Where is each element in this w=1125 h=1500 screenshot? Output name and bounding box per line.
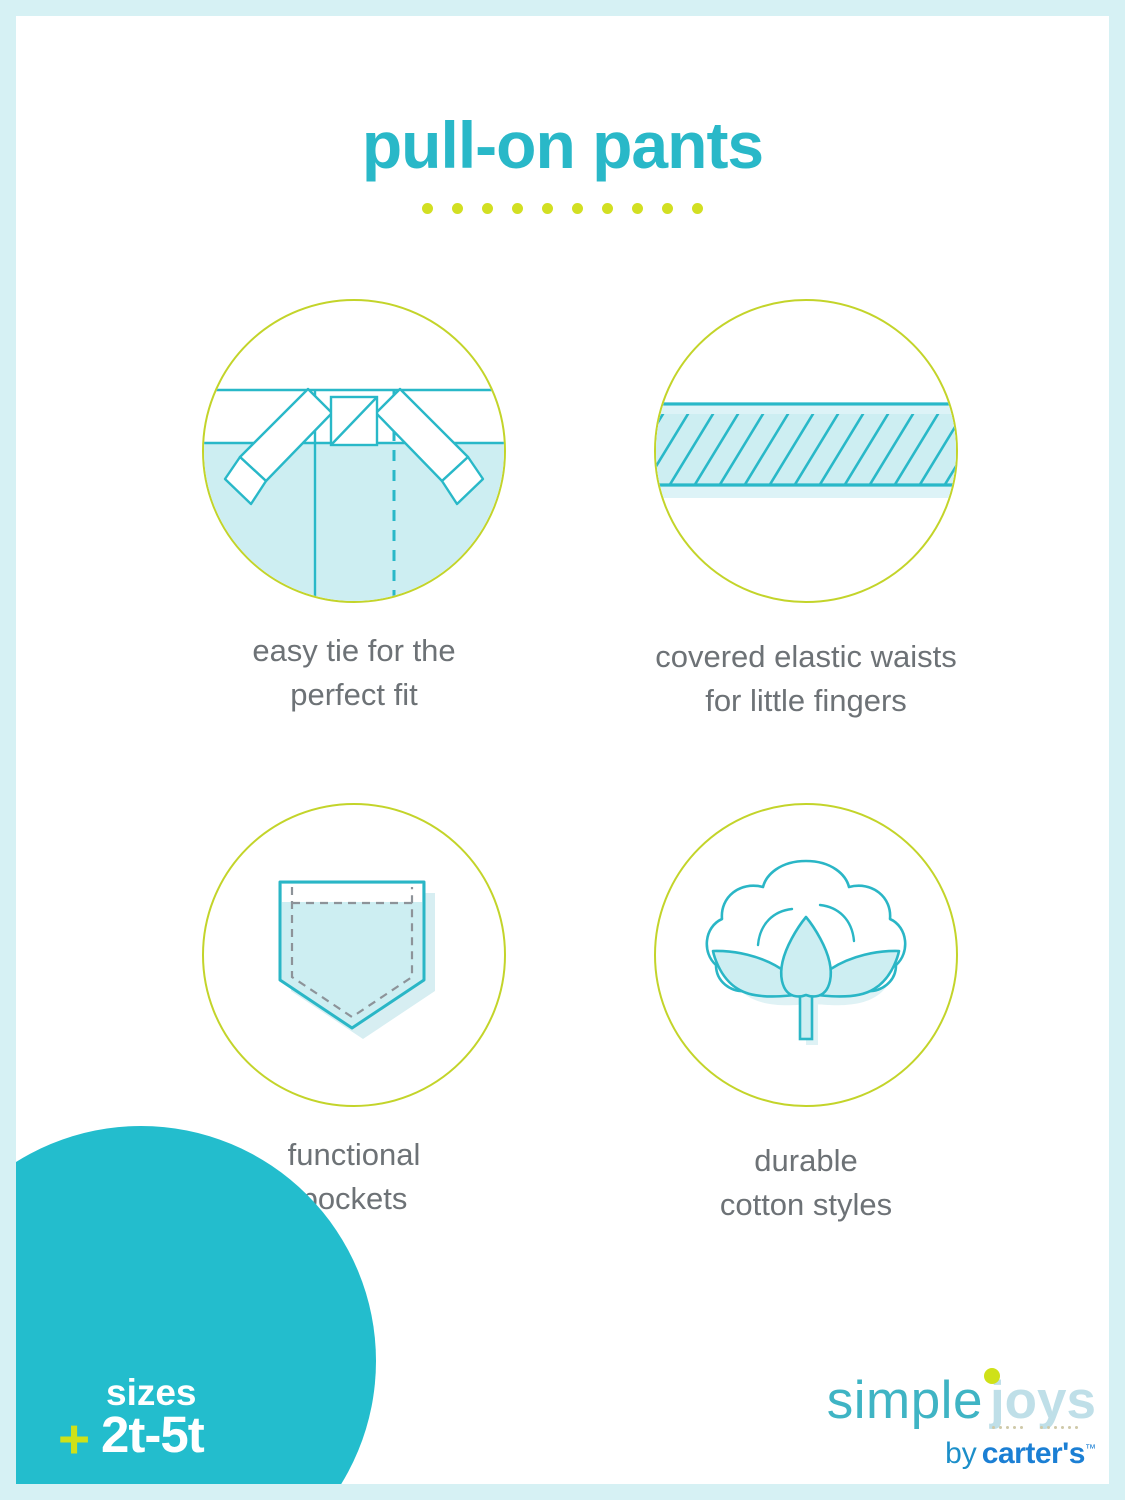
drawstring-tie-icon	[202, 299, 506, 603]
brand-underline-dots	[992, 1426, 1078, 1429]
feature-caption: easy tie for the perfect fit	[124, 629, 584, 717]
decorative-dot-divider	[16, 203, 1109, 214]
feature-caption-line2: for little fingers	[576, 679, 1036, 723]
divider-dot	[602, 203, 613, 214]
divider-dot	[632, 203, 643, 214]
feature-caption-line1: durable	[576, 1139, 1036, 1183]
brand-underline-dot	[1047, 1426, 1050, 1429]
brand-underline-dot	[1068, 1426, 1071, 1429]
brand-underline-dot	[999, 1426, 1002, 1429]
brand-logo-secondary: bycarter's™	[816, 1439, 1096, 1469]
brand-underline-dot	[1006, 1426, 1009, 1429]
feature-item-easy-tie: easy tie for the perfect fit	[124, 299, 584, 717]
divider-dot	[662, 203, 673, 214]
brand-underline-dot	[1061, 1426, 1064, 1429]
feature-caption: covered elastic waists for little finger…	[576, 635, 1036, 723]
feature-item-elastic-waist: covered elastic waists for little finger…	[576, 299, 1036, 723]
brand-underline-dot-group	[992, 1426, 1023, 1429]
brand-underline-dot-group	[1040, 1426, 1078, 1429]
brand-logo-primary: simplejoys	[816, 1374, 1096, 1427]
divider-dot	[422, 203, 433, 214]
divider-dot	[692, 203, 703, 214]
feature-caption-line2: perfect fit	[124, 673, 584, 717]
divider-dot	[572, 203, 583, 214]
sizes-plus-symbol: +	[58, 1412, 90, 1467]
brand-underline-dot	[1054, 1426, 1057, 1429]
divider-dot	[452, 203, 463, 214]
brand-logo: simplejoys	[816, 1374, 1096, 1469]
brand-underline-dot	[1020, 1426, 1023, 1429]
page-title: pull-on pants	[16, 112, 1109, 178]
sizes-range-value: 2t-5t	[101, 1409, 204, 1460]
brand-word-joys: joys	[990, 1371, 1096, 1430]
content-card: pull-on pants	[16, 16, 1109, 1484]
brand-j-dot-icon	[984, 1368, 1000, 1384]
divider-dot	[512, 203, 523, 214]
cotton-boll-icon	[654, 803, 958, 1107]
elastic-waistband-icon	[654, 299, 958, 603]
brand-word-carters: carter's	[982, 1437, 1085, 1470]
divider-dot	[542, 203, 553, 214]
brand-underline-dot	[992, 1426, 995, 1429]
feature-caption: durable cotton styles	[576, 1139, 1036, 1227]
brand-underline-dot	[1013, 1426, 1016, 1429]
divider-dot	[482, 203, 493, 214]
brand-underline-dot	[1075, 1426, 1078, 1429]
feature-item-cotton: durable cotton styles	[576, 803, 1036, 1227]
feature-caption-line1: covered elastic waists	[576, 635, 1036, 679]
infographic-page: pull-on pants	[0, 0, 1125, 1500]
brand-word-simple: simple	[827, 1371, 983, 1430]
pocket-icon	[202, 803, 506, 1107]
brand-underline-dot	[1040, 1426, 1043, 1429]
feature-caption-line2: cotton styles	[576, 1183, 1036, 1227]
brand-word-by: by	[945, 1437, 977, 1470]
trademark-icon: ™	[1085, 1443, 1096, 1455]
feature-caption-line1: easy tie for the	[124, 629, 584, 673]
